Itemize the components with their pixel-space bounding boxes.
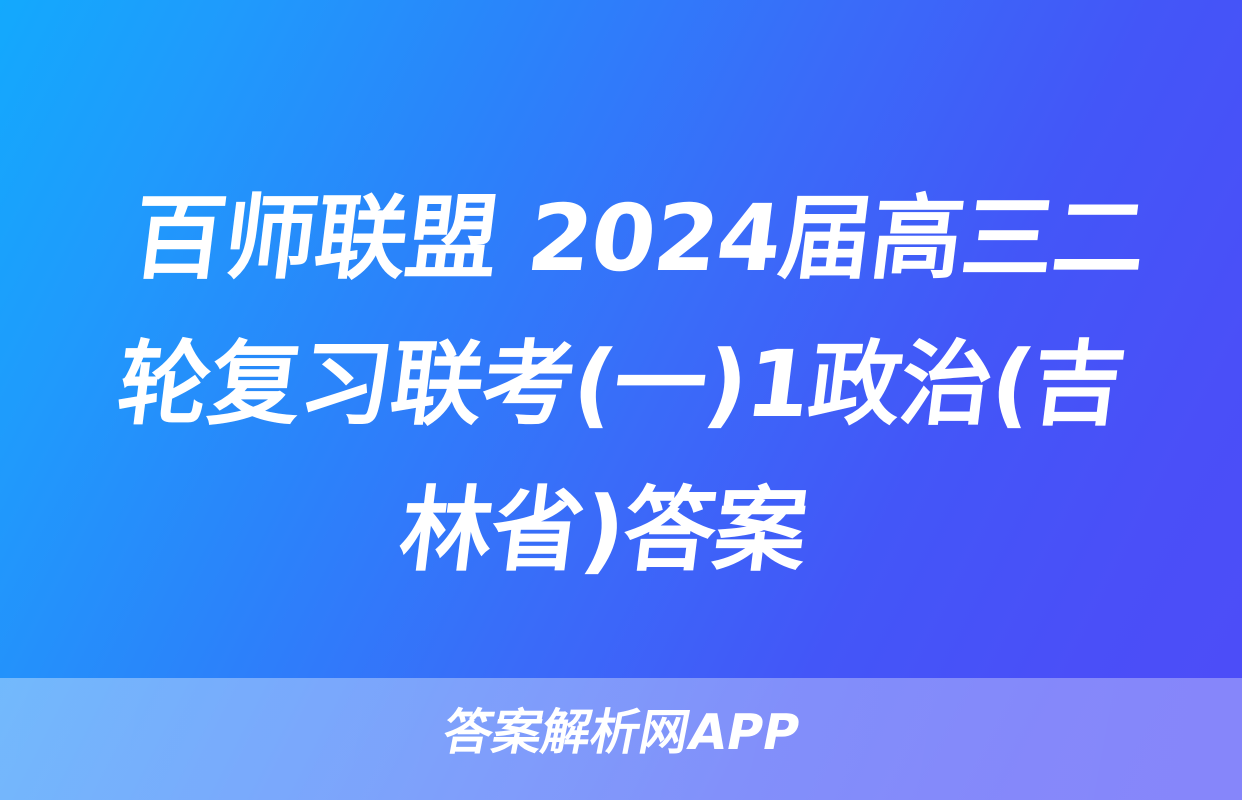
- title-line-1: 百师联盟 2024届高三二: [49, 166, 1229, 312]
- watermark-block: 答案解析网APP: [0, 705, 1242, 761]
- title-block: 百师联盟 2024届高三二 轮复习联考(一)1政治(吉 林省)答案: [0, 166, 1242, 604]
- page-title: 百师联盟 2024届高三二 轮复习联考(一)1政治(吉 林省)答案: [13, 166, 1229, 604]
- title-line-2: 轮复习联考(一)1政治(吉: [31, 312, 1211, 458]
- promo-card: 百师联盟 2024届高三二 轮复习联考(一)1政治(吉 林省)答案 答案解析网A…: [0, 0, 1242, 800]
- app-watermark: 答案解析网APP: [438, 705, 804, 761]
- title-line-3: 林省)答案: [13, 458, 1193, 604]
